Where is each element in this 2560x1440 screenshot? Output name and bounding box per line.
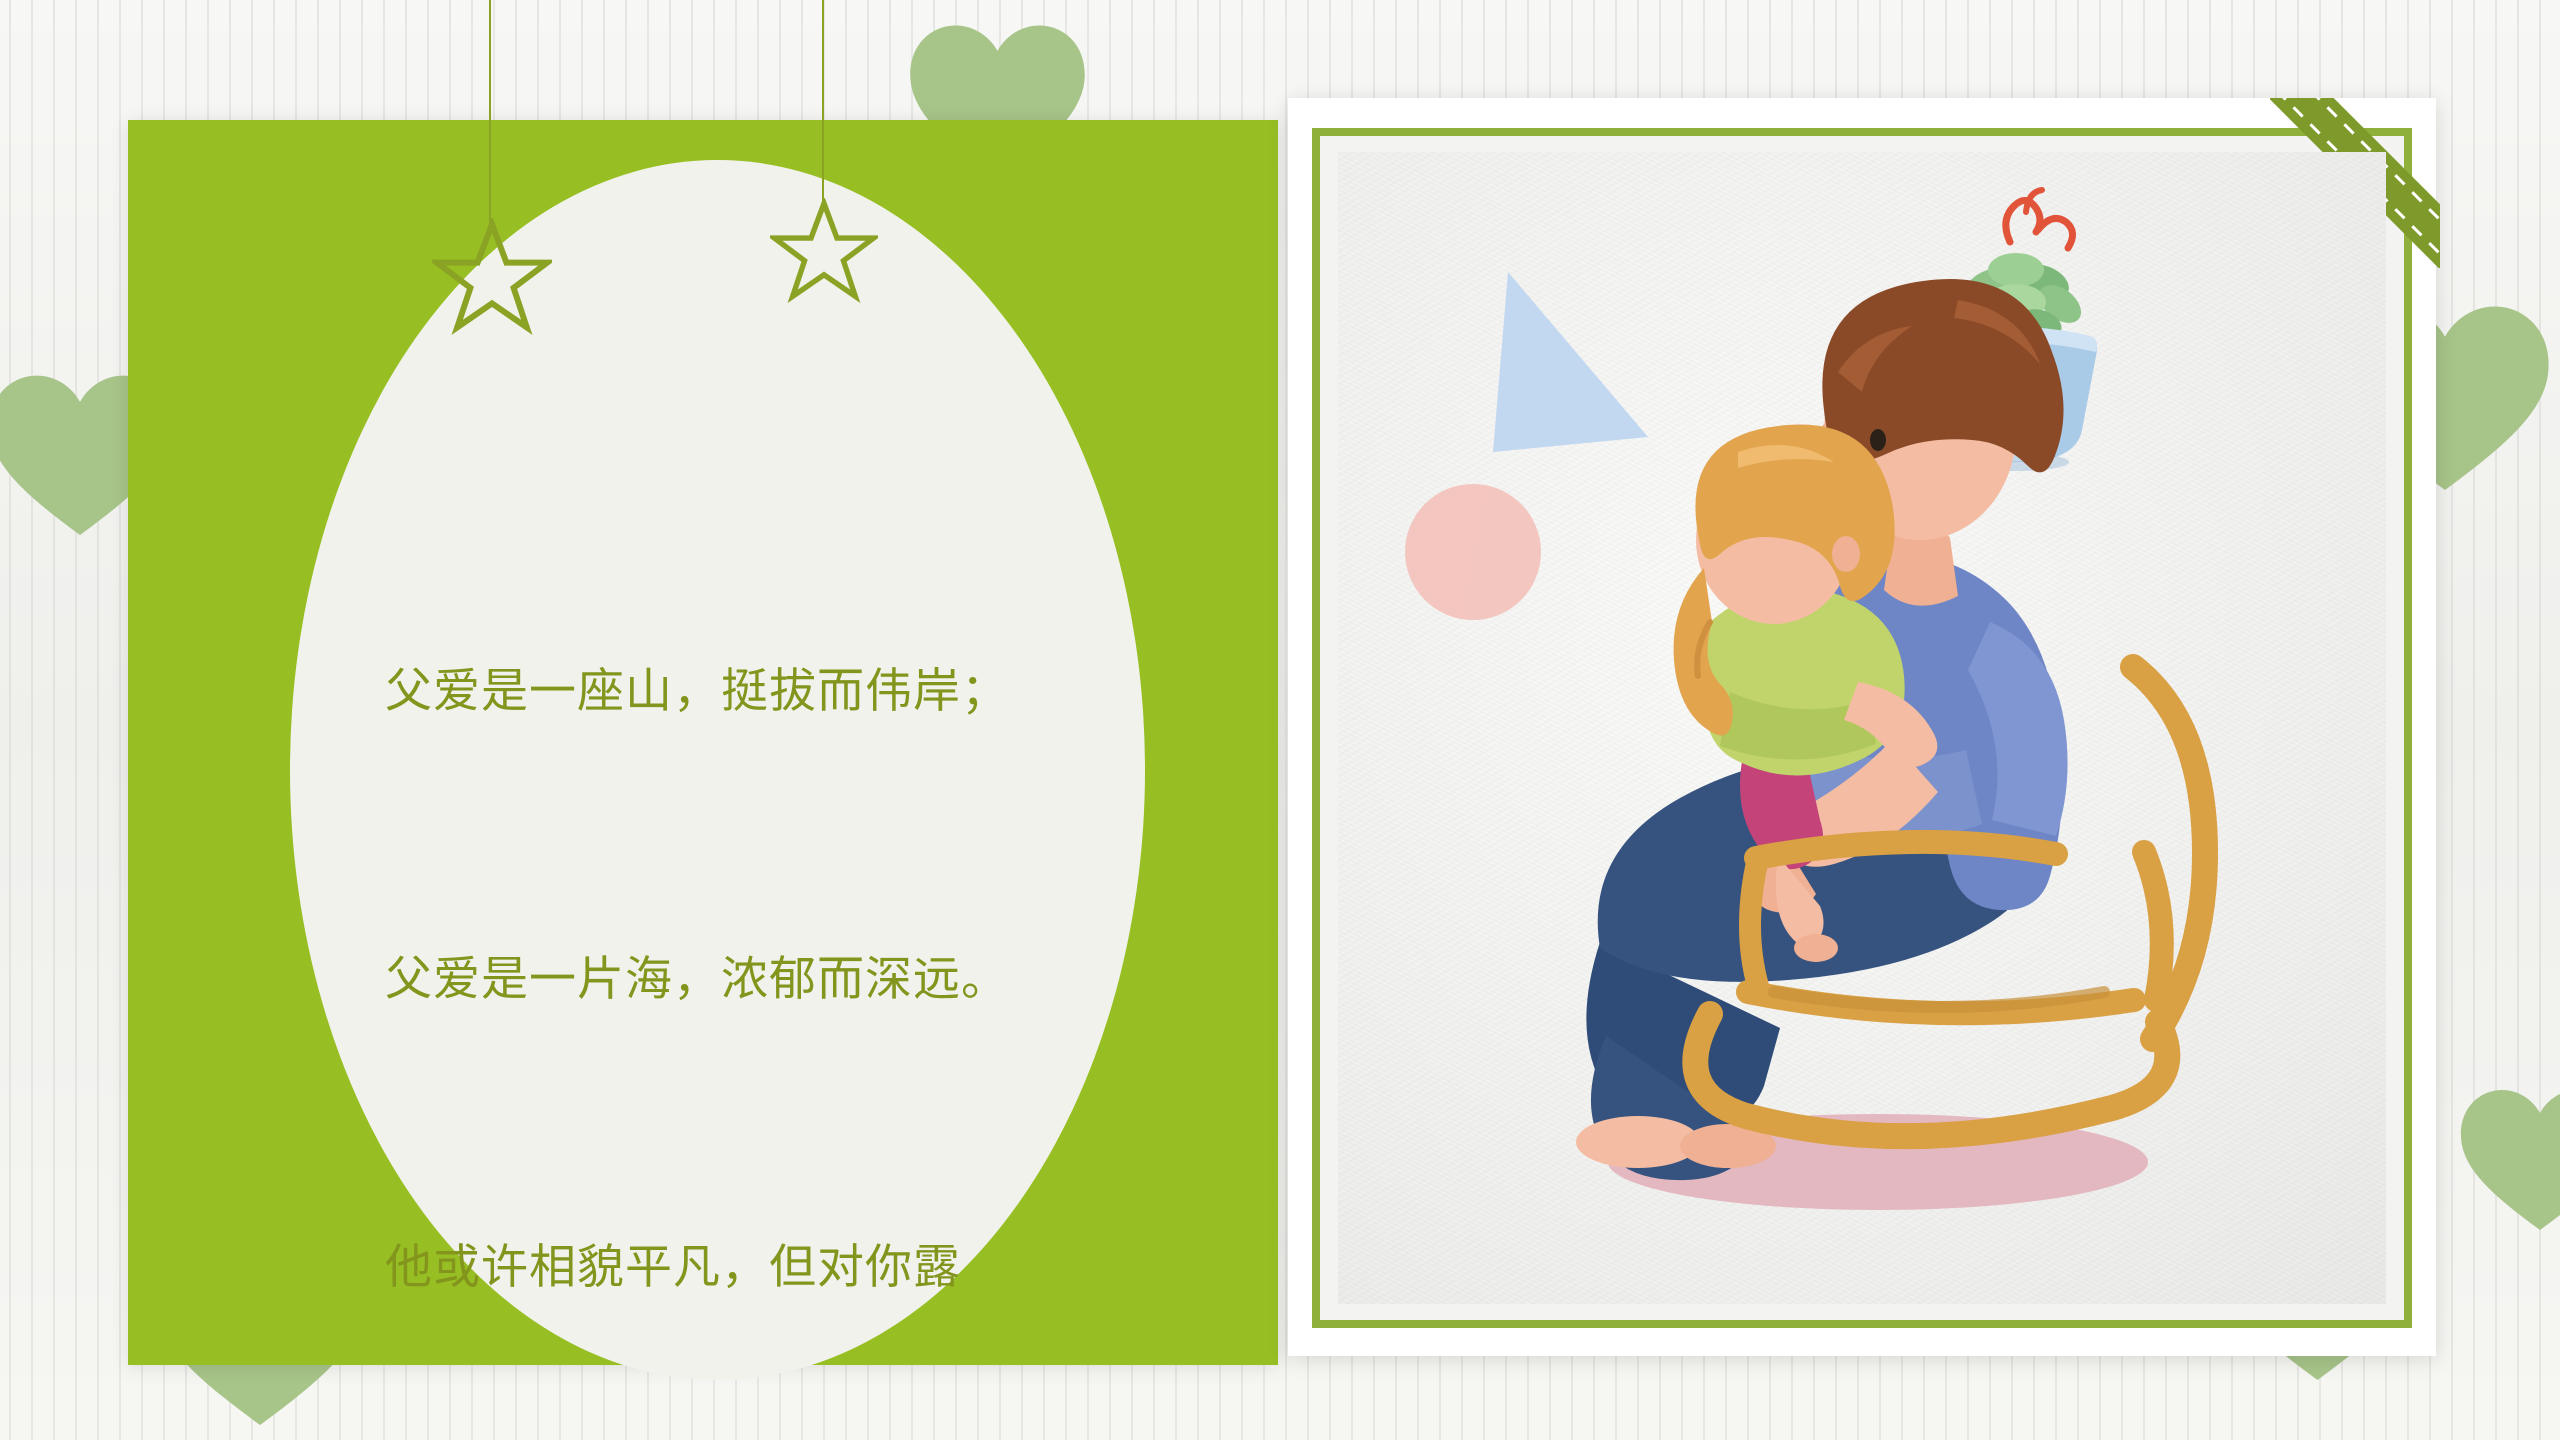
father-and-daughter-illustration	[1338, 152, 2386, 1304]
star-left-icon	[432, 218, 552, 336]
poem-line-1: 父爱是一座山，挺拔而伟岸；	[385, 644, 1105, 740]
pink-circle-shape	[1405, 484, 1541, 620]
heart-right-lower-icon	[2455, 1085, 2560, 1230]
poem-line-3: 他或许相貌平凡，但对你露	[385, 1220, 1105, 1316]
poem-line-2: 父爱是一片海，浓郁而深远。	[385, 932, 1105, 1028]
star-string-right	[822, 0, 824, 208]
slide-canvas: 父爱是一座山，挺拔而伟岸； 父爱是一片海，浓郁而深远。 他或许相貌平凡，但对你露…	[0, 0, 2560, 1440]
star-right-icon	[770, 198, 878, 304]
illustration-canvas	[1338, 152, 2386, 1304]
poem-text-block: 父爱是一座山，挺拔而伟岸； 父爱是一片海，浓郁而深远。 他或许相貌平凡，但对你露…	[385, 452, 1105, 1440]
blue-triangle-shape	[1493, 272, 1648, 452]
star-string-left	[489, 0, 491, 228]
